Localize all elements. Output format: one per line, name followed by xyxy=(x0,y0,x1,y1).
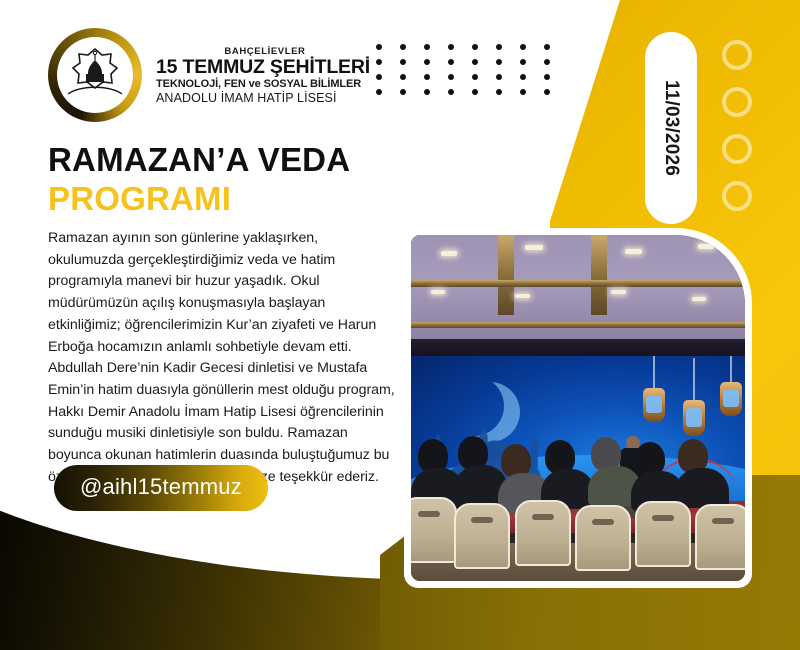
grid-dot xyxy=(496,44,502,50)
photo-ceiling-beam xyxy=(411,280,745,287)
grid-dot xyxy=(400,89,406,95)
ring-icon xyxy=(722,40,752,70)
photo-ceiling-beam xyxy=(591,235,607,315)
event-photo xyxy=(411,235,745,581)
date-badge-value: 11/03/2026 xyxy=(660,80,682,176)
grid-dot xyxy=(496,89,502,95)
event-photo-card xyxy=(404,228,752,588)
headline-line-2: PROGRAMI xyxy=(48,181,350,218)
audience-body xyxy=(675,468,729,508)
grid-dot xyxy=(544,59,550,65)
photo-screen-frame xyxy=(411,339,745,356)
grid-dot xyxy=(400,59,406,65)
grid-dot xyxy=(472,74,478,80)
ring-decoration-column xyxy=(722,40,752,211)
grid-dot xyxy=(376,89,382,95)
photo-ceiling-light xyxy=(692,297,706,301)
logo-ring xyxy=(48,28,142,122)
lantern-icon xyxy=(720,382,742,416)
photo-ceiling-light xyxy=(431,290,445,294)
photo-ceiling-light xyxy=(515,294,530,298)
brand-line-main: 15 TEMMUZ ŞEHİTLERİ xyxy=(156,58,370,78)
grid-dot xyxy=(520,89,526,95)
mosque-emblem-icon xyxy=(64,46,126,104)
lantern-icon xyxy=(683,400,705,436)
audience-chair xyxy=(635,501,691,567)
audience-chair xyxy=(454,503,510,569)
headline-line-1: RAMAZAN’A VEDA xyxy=(48,142,350,179)
brand-logo-block: BAHÇELİEVLER 15 TEMMUZ ŞEHİTLERİ TEKNOLO… xyxy=(48,28,370,122)
photo-ceiling-beam xyxy=(411,322,745,328)
grid-dot xyxy=(520,44,526,50)
ring-icon xyxy=(722,134,752,164)
ring-icon xyxy=(722,181,752,211)
grid-dot xyxy=(496,74,502,80)
social-handle-pill[interactable]: @aihl15temmuz xyxy=(54,465,268,511)
grid-dot xyxy=(400,74,406,80)
audience-chair xyxy=(575,505,631,571)
grid-dot xyxy=(448,59,454,65)
date-badge: 11/03/2026 xyxy=(645,32,697,224)
grid-dot xyxy=(448,74,454,80)
photo-ceiling-light xyxy=(525,245,543,250)
grid-dot xyxy=(424,44,430,50)
grid-dot xyxy=(376,44,382,50)
grid-dot xyxy=(544,89,550,95)
photo-ceiling-beam xyxy=(498,235,514,315)
audience-chair xyxy=(695,504,745,570)
school-name-block: BAHÇELİEVLER 15 TEMMUZ ŞEHİTLERİ TEKNOLO… xyxy=(156,45,370,105)
grid-dot xyxy=(424,74,430,80)
poster-canvas: BAHÇELİEVLER 15 TEMMUZ ŞEHİTLERİ TEKNOLO… xyxy=(0,0,800,650)
grid-dot xyxy=(472,59,478,65)
photo-ceiling-light xyxy=(441,251,457,256)
photo-audience xyxy=(411,436,745,581)
grid-dot xyxy=(448,89,454,95)
grid-dot xyxy=(424,59,430,65)
body-paragraph: Ramazan ayının son günlerine yaklaşırken… xyxy=(48,228,396,489)
grid-dot xyxy=(472,44,478,50)
grid-dot xyxy=(376,74,382,80)
grid-dot xyxy=(376,59,382,65)
dot-grid-decoration xyxy=(376,44,568,104)
photo-ceiling-light xyxy=(625,249,642,254)
grid-dot xyxy=(520,74,526,80)
audience-chair xyxy=(515,500,571,566)
grid-dot xyxy=(448,44,454,50)
grid-dot xyxy=(496,59,502,65)
audience-chair xyxy=(411,497,457,563)
grid-dot xyxy=(544,74,550,80)
grid-dot xyxy=(400,44,406,50)
headline-block: RAMAZAN’A VEDA PROGRAMI xyxy=(48,142,350,218)
ring-icon xyxy=(722,87,752,117)
social-handle-text: @aihl15temmuz xyxy=(80,474,242,499)
brand-line-sub: TEKNOLOJİ, FEN ve SOSYAL BİLİMLER xyxy=(156,79,370,90)
grid-dot xyxy=(472,89,478,95)
photo-ceiling-light xyxy=(698,244,714,249)
brand-line-sub2: ANADOLU İMAM HATİP LİSESİ xyxy=(156,92,370,105)
grid-dot xyxy=(520,59,526,65)
lantern-icon xyxy=(643,388,665,422)
grid-dot xyxy=(544,44,550,50)
photo-ceiling-light xyxy=(611,290,626,294)
grid-dot xyxy=(424,89,430,95)
